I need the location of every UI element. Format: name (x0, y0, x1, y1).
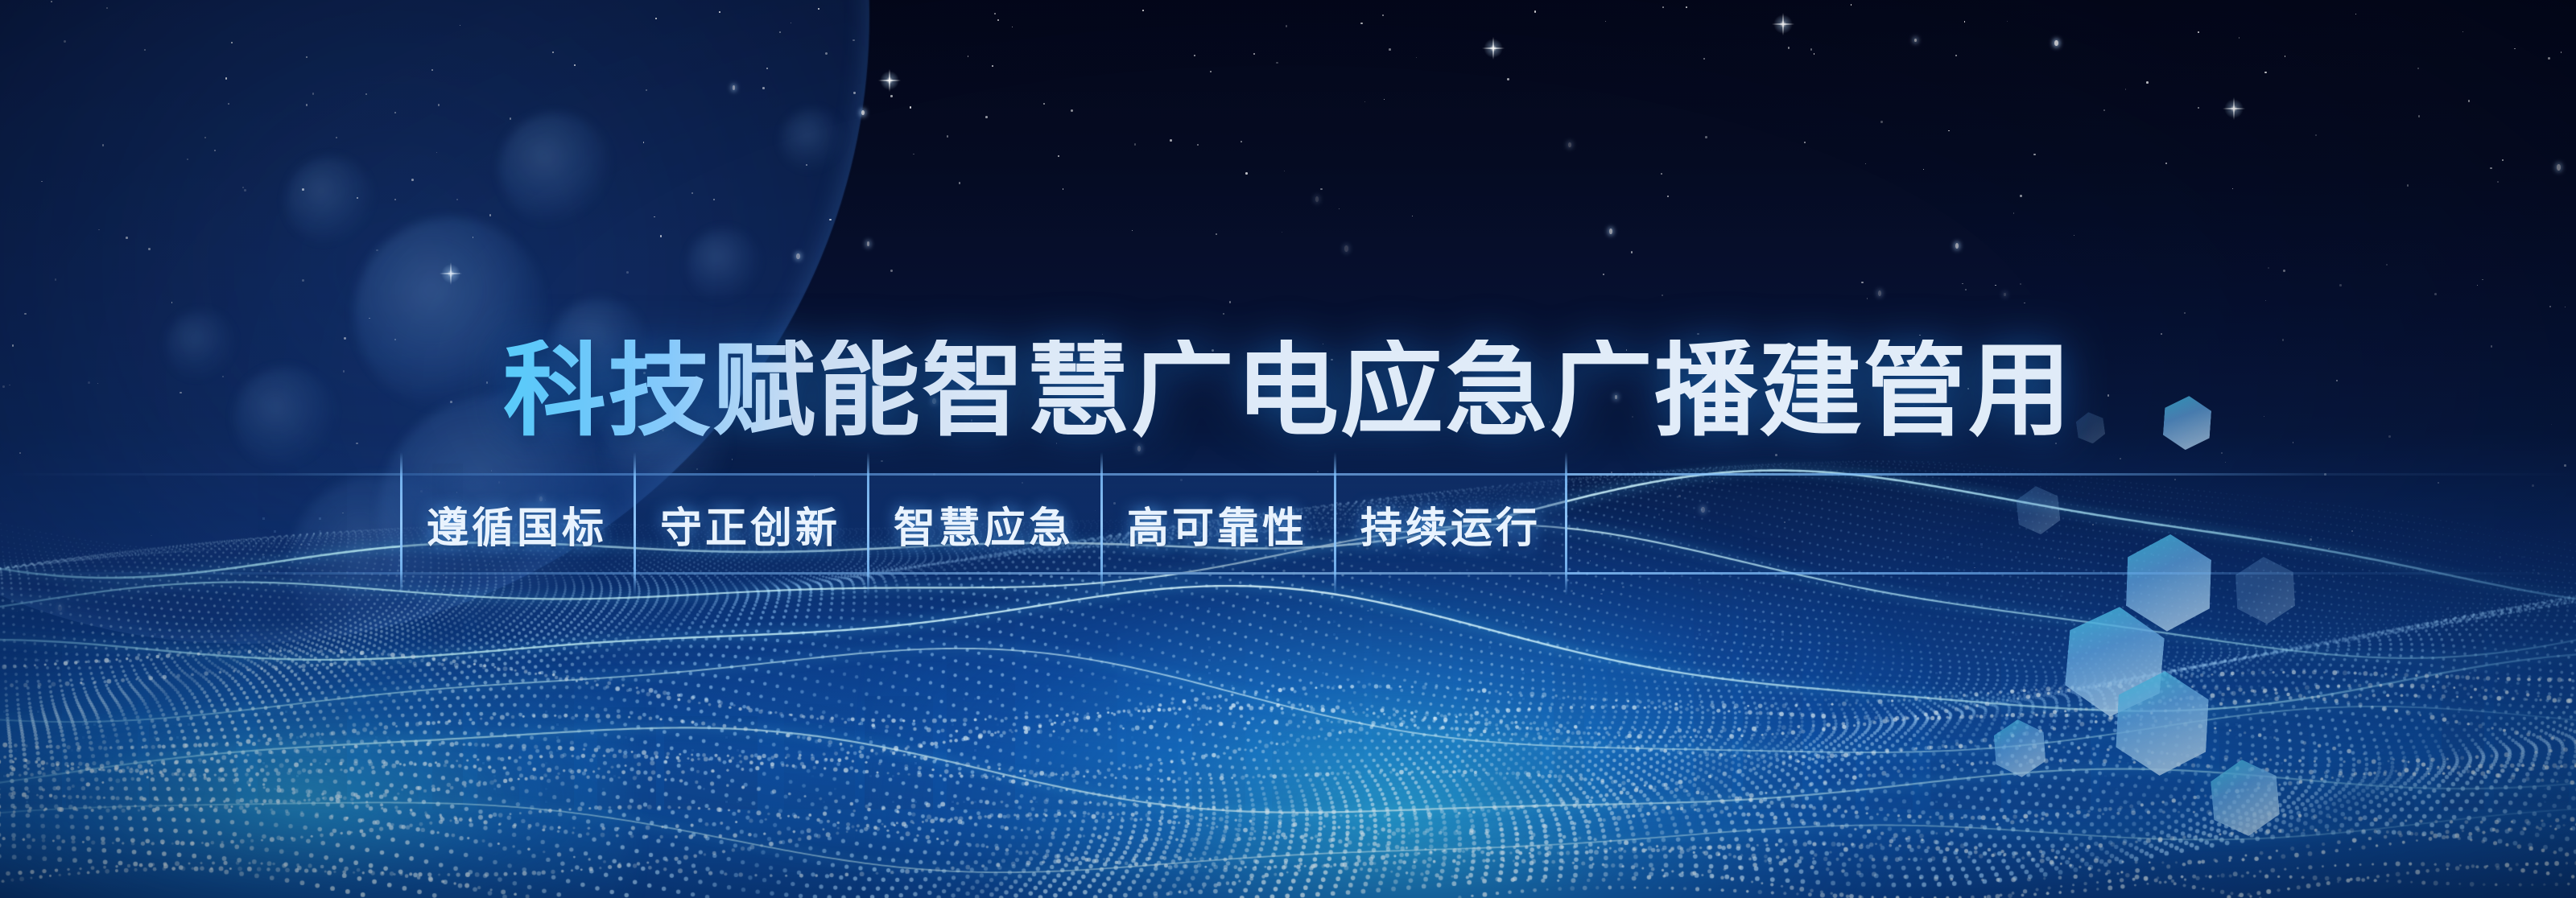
star-dot (2198, 31, 2199, 33)
star-dot (1170, 139, 1172, 142)
star-dot (1320, 188, 1322, 190)
star-dot (959, 182, 960, 183)
star-dot (867, 241, 870, 246)
tag-label: 守正创新 (660, 494, 840, 554)
hexagon-shape-9 (2209, 757, 2281, 839)
star-dot (2198, 107, 2199, 109)
star-dot (2497, 181, 2499, 183)
star-dot (1223, 313, 1224, 315)
star-dot (2146, 81, 2149, 84)
star-dot (2418, 115, 2421, 117)
star-dot (1132, 230, 1133, 231)
tag-divider (1334, 452, 1336, 595)
star-dot (1686, 6, 1687, 8)
star-dot (1344, 245, 1348, 252)
star-dot (1134, 143, 1137, 146)
star-dot (2557, 164, 2561, 171)
star-dot (2103, 109, 2105, 111)
star-dot (2020, 283, 2021, 285)
star-dot (910, 106, 911, 108)
star-dot (992, 65, 993, 67)
star-dot (1276, 62, 1278, 64)
star-dot (1880, 121, 1883, 123)
star-dot (2315, 134, 2317, 136)
star-dot (913, 154, 914, 155)
star-dot (1851, 4, 1852, 6)
star-dot (2417, 68, 2419, 69)
sparkle-star-icon (1772, 13, 1794, 35)
star-dot (1878, 290, 1881, 295)
star-dot (890, 270, 893, 272)
star-dot (2482, 279, 2483, 280)
banner-title: 科技赋能智慧广电应急广播建管用 (0, 340, 2576, 443)
star-dot (1923, 169, 1924, 170)
star-dot (1282, 232, 1282, 233)
star-dot (1867, 298, 1868, 299)
star-dot (1948, 130, 1949, 131)
hero-banner: 科技赋能智慧广电应急广播建管用 遵循国标守正创新智慧应急高可靠性持续运行 (0, 0, 2576, 898)
star-dot (1605, 21, 1606, 22)
tag-divider (634, 452, 636, 595)
star-dot (2502, 159, 2504, 161)
star-dot (2462, 31, 2463, 32)
star-dot (2548, 57, 2550, 60)
star-dot (2033, 154, 2035, 155)
star-dot (1964, 21, 1965, 22)
tag-label: 持续运行 (1360, 494, 1541, 554)
star-dot (994, 13, 996, 14)
hexagon-shape-7 (1993, 718, 2047, 779)
star-dot (2283, 270, 2285, 272)
sparkle-star-icon (1482, 37, 1505, 60)
star-dot (2285, 56, 2285, 56)
tag-item-1[interactable]: 遵循国标 (400, 473, 634, 575)
star-dot (1705, 136, 1707, 138)
tag-item-2[interactable]: 守正创新 (634, 473, 867, 575)
star-dot (1012, 27, 1013, 27)
star-dot (1609, 229, 1613, 234)
star-dot (1955, 55, 1957, 56)
star-dot (2268, 267, 2269, 269)
star-dot (2477, 285, 2478, 286)
star-dot (2549, 306, 2551, 307)
star-dot (2054, 40, 2058, 46)
star-dot (1416, 57, 1417, 58)
star-dot (1339, 208, 1340, 209)
star-dot (1315, 196, 1319, 202)
star-dot (1142, 10, 1144, 11)
star-dot (985, 116, 988, 118)
star-dot (1865, 163, 1866, 164)
star-dot (2434, 293, 2437, 295)
sparkle-star-icon (878, 69, 901, 92)
star-dot (1210, 71, 1212, 72)
star-dot (2561, 51, 2562, 52)
star-dot (2161, 333, 2162, 335)
star-dot (1364, 101, 1365, 102)
tag-row: 遵循国标守正创新智慧应急高可靠性持续运行 (400, 473, 1567, 575)
star-dot (2125, 89, 2126, 89)
star-dot (1603, 274, 1604, 275)
star-dot (1241, 141, 1242, 142)
tag-divider (1100, 452, 1103, 595)
star-dot (1389, 48, 1391, 51)
star-dot (2004, 293, 2006, 296)
star-dot (2468, 100, 2470, 101)
star-dot (947, 135, 949, 138)
tag-label: 高可靠性 (1127, 494, 1307, 554)
star-dot (1043, 103, 1045, 105)
star-dot (2184, 312, 2186, 314)
star-dot (1667, 196, 1669, 197)
star-dot (2386, 264, 2388, 266)
star-dot (2007, 21, 2008, 22)
star-dot (1058, 155, 1059, 157)
star-dot (2074, 235, 2074, 236)
star-dot (968, 56, 968, 56)
tag-item-5[interactable]: 持续运行 (1334, 473, 1567, 575)
star-dot (2239, 37, 2240, 38)
star-dot (1914, 39, 1917, 42)
sparkle-star-icon (2223, 97, 2245, 120)
star-dot (2514, 48, 2516, 50)
star-dot (1810, 48, 1812, 50)
tag-label: 遵循国标 (427, 494, 607, 554)
star-dot (2407, 184, 2409, 187)
star-dot (2024, 303, 2025, 303)
star-dot (2265, 300, 2267, 302)
star-dot (1382, 14, 1384, 16)
star-dot (2165, 163, 2167, 164)
star-dot (2339, 284, 2342, 286)
star-dot (1194, 55, 1195, 56)
star-dot (1360, 23, 1362, 24)
star-dot (1995, 285, 1996, 286)
star-dot (1631, 251, 1633, 253)
star-dot (1507, 78, 1509, 80)
star-dot (1568, 142, 1571, 147)
star-dot (1071, 109, 1073, 112)
star-dot (1965, 289, 1967, 290)
star-dot (1063, 188, 1064, 190)
star-dot (1286, 25, 1288, 27)
star-dot (1284, 171, 1285, 171)
star-dot (890, 95, 892, 97)
star-dot (1804, 142, 1806, 143)
star-dot (1703, 58, 1705, 60)
star-dot (1412, 216, 1413, 216)
star-dot (1229, 301, 1231, 303)
star-dot (1384, 99, 1385, 101)
star-dot (2490, 167, 2492, 170)
star-dot (2020, 195, 2022, 197)
star-dot (1245, 172, 1248, 175)
tag-divider (400, 452, 402, 595)
tag-divider-end (1565, 452, 1567, 595)
tag-item-3[interactable]: 智慧应急 (867, 473, 1100, 575)
star-dot (2264, 72, 2267, 74)
star-dot (1955, 243, 1959, 249)
star-dot (1216, 233, 1217, 235)
star-dot (1197, 144, 1199, 146)
tag-label: 智慧应急 (894, 494, 1074, 554)
star-dot (1662, 295, 1663, 296)
star-dot (1861, 282, 1864, 284)
star-dot (1534, 10, 1536, 12)
star-dot (2565, 307, 2566, 307)
star-dot (1661, 173, 1662, 175)
tag-strip: 遵循国标守正创新智慧应急高可靠性持续运行 (0, 473, 2576, 575)
star-dot (1662, 6, 1664, 8)
tag-divider (867, 452, 869, 595)
star-dot (2355, 14, 2356, 14)
star-dot (1788, 47, 1790, 48)
tag-item-4[interactable]: 高可靠性 (1100, 473, 1334, 575)
star-dot (2232, 188, 2233, 189)
star-dot (1253, 53, 1256, 56)
star-dot (1962, 283, 1963, 285)
star-dot (2013, 212, 2014, 213)
star-dot (1814, 53, 1814, 54)
star-dot (997, 19, 999, 21)
